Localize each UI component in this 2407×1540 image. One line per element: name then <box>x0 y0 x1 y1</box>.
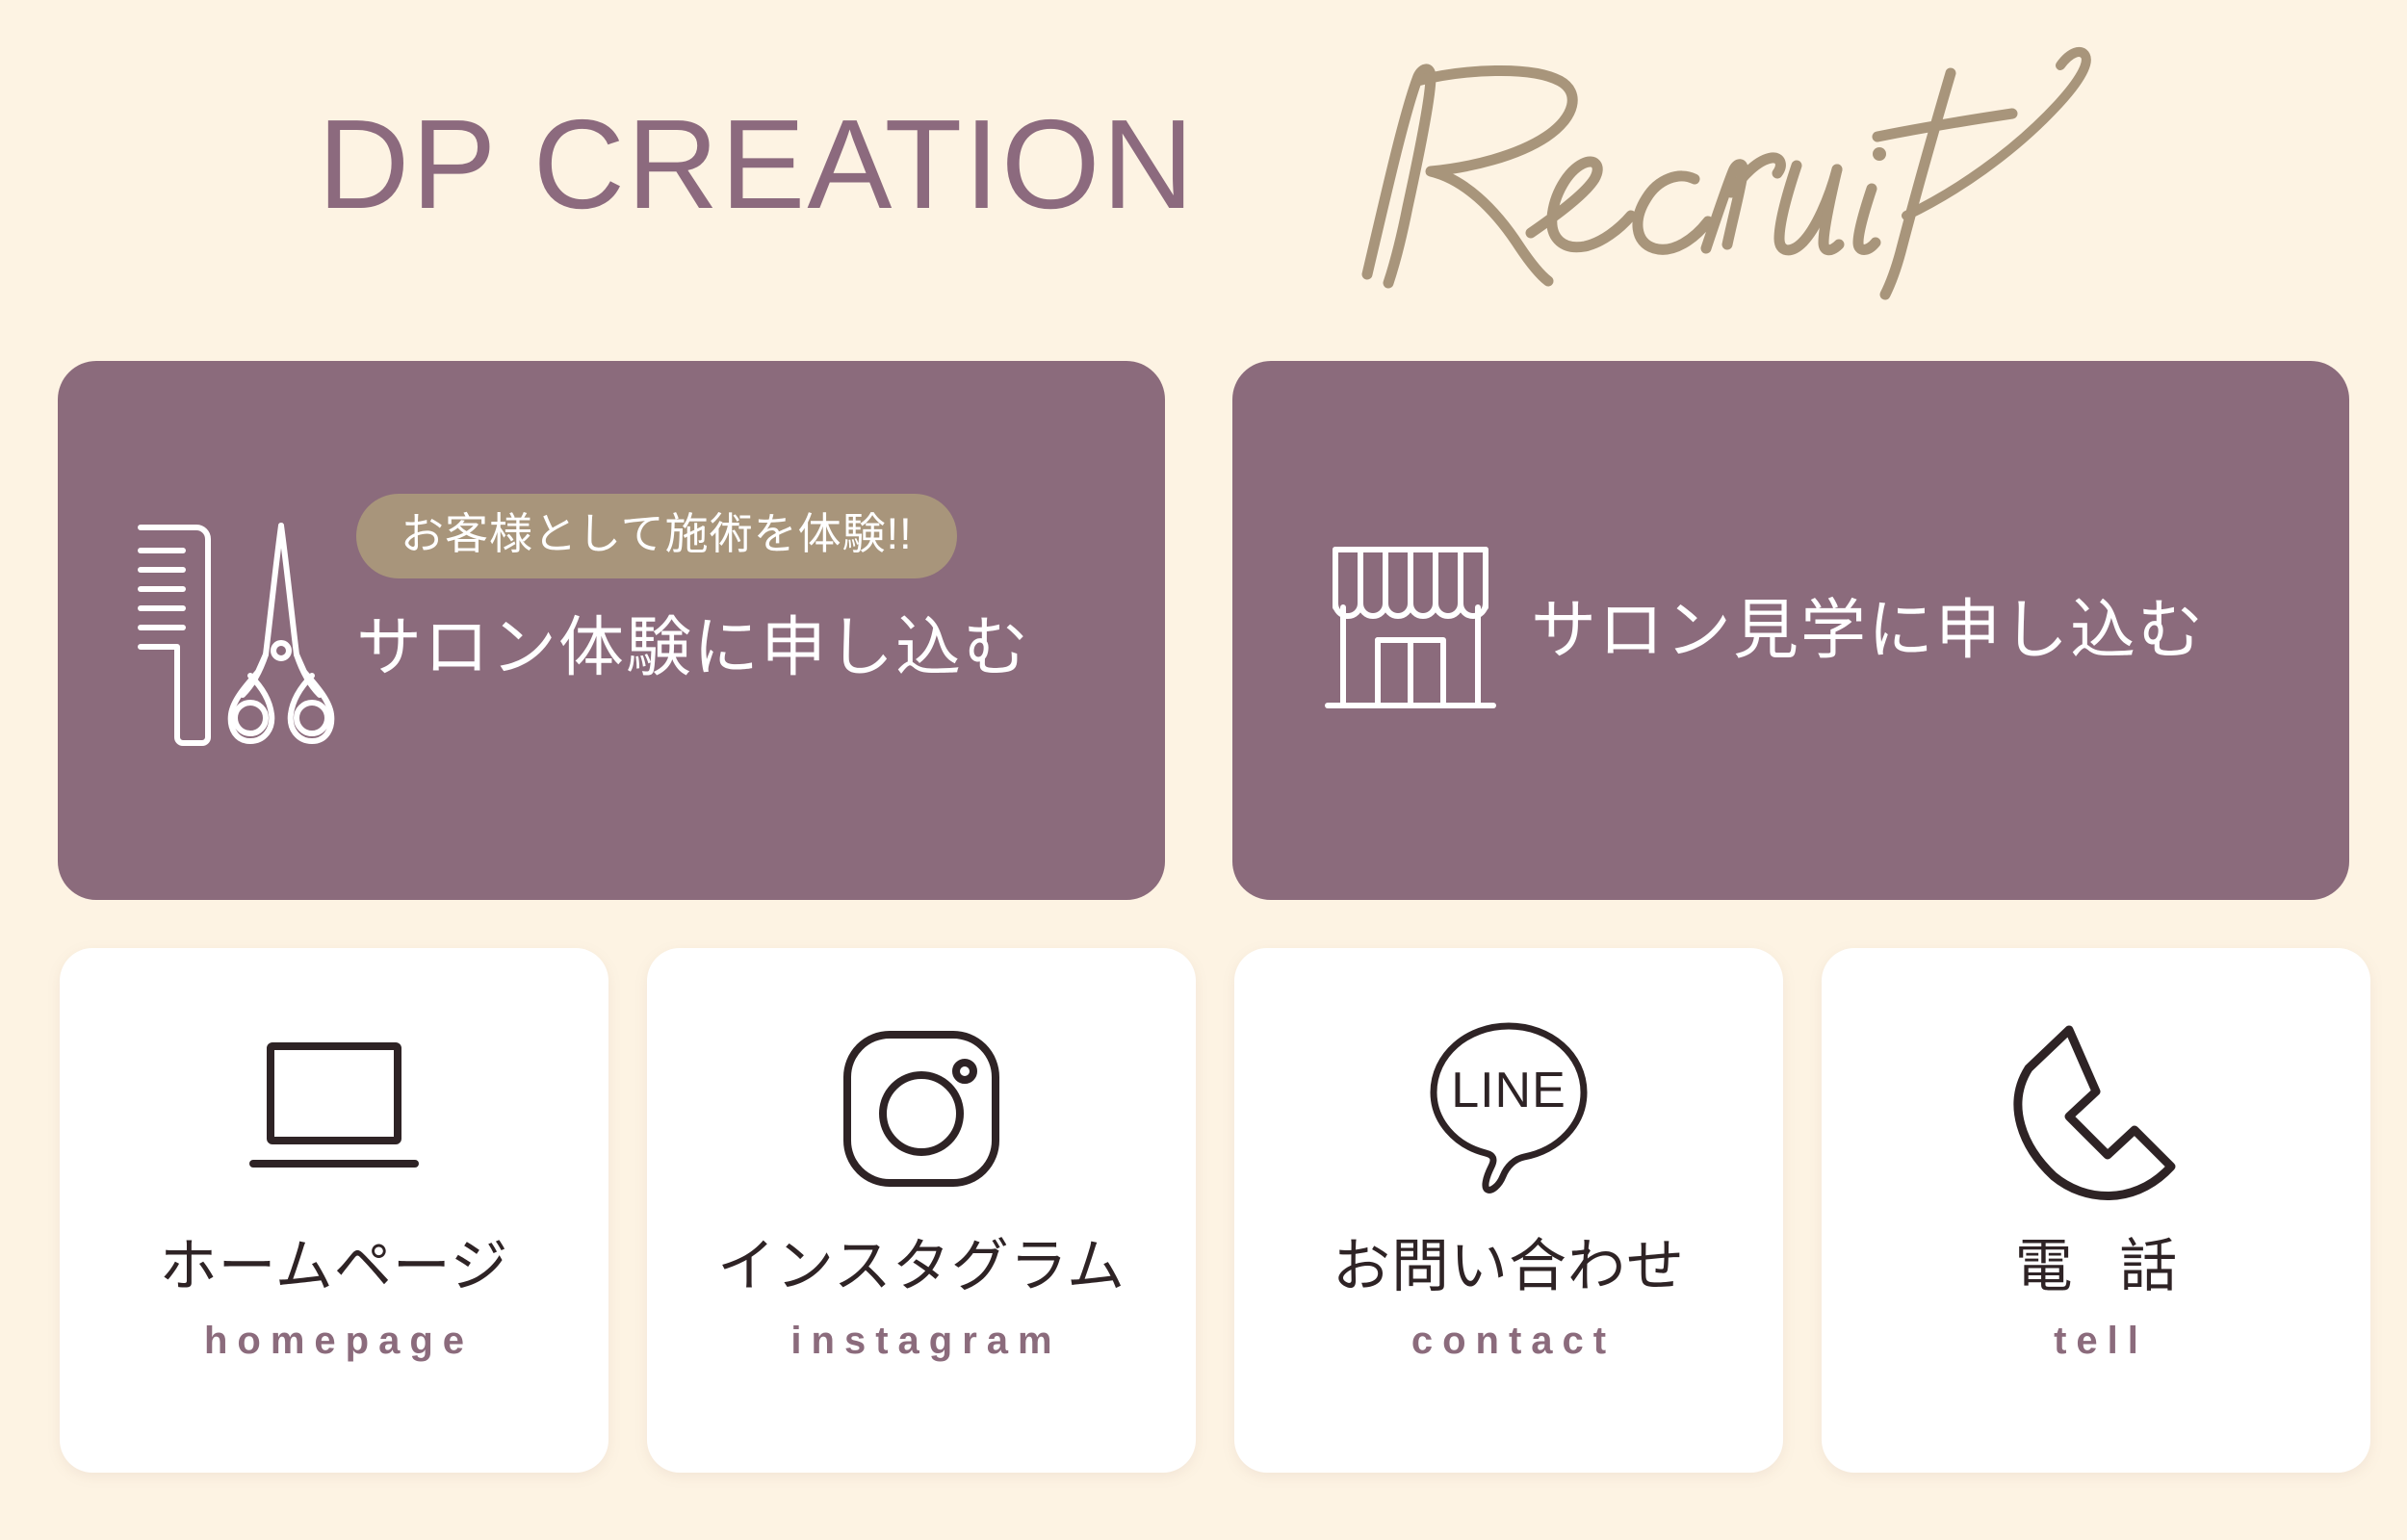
salon-tour-label: サロン見学に申し込む <box>1531 592 2349 669</box>
contact-label-ja: お問い合わせ <box>1333 1235 1685 1298</box>
contact-card[interactable]: LINE お問い合わせ contact <box>1234 948 1783 1473</box>
salon-trial-text: お客様として施術を体験!! サロン体験に申し込む <box>356 575 1165 686</box>
contact-label-en: contact <box>1402 1320 1616 1363</box>
tell-card[interactable]: 電 話 tell <box>1822 948 2370 1473</box>
tell-label-en: tell <box>2044 1320 2148 1363</box>
salon-trial-card[interactable]: お客様として施術を体験!! サロン体験に申し込む <box>58 361 1165 900</box>
phone-handset-icon <box>1995 1008 2197 1210</box>
salon-trial-badge: お客様として施術を体験!! <box>356 494 957 578</box>
tell-label-ja: 電 話 <box>2000 1235 2193 1298</box>
recruit-script-wordmark <box>1242 10 2157 298</box>
homepage-label-en: homepage <box>194 1320 474 1363</box>
comb-scissors-icon <box>96 510 356 751</box>
instagram-icon <box>820 1008 1022 1210</box>
instagram-label-en: instagram <box>781 1320 1061 1363</box>
salon-tour-card[interactable]: サロン見学に申し込む <box>1232 361 2349 900</box>
salon-trial-label: サロン体験に申し込む <box>356 609 1165 686</box>
secondary-link-row: ホームページ homepage インスタグラム instagram LINE <box>0 948 2407 1506</box>
primary-action-row: お客様として施術を体験!! サロン体験に申し込む <box>0 361 2407 900</box>
laptop-icon <box>233 1008 435 1210</box>
homepage-card[interactable]: ホームページ homepage <box>60 948 608 1473</box>
page-title: DP CREATION <box>318 101 1196 228</box>
homepage-label-ja: ホームページ <box>160 1235 509 1298</box>
salon-tour-text: サロン見学に申し込む <box>1531 592 2349 669</box>
instagram-label-ja: インスタグラム <box>717 1235 1126 1298</box>
storefront-icon <box>1290 534 1531 727</box>
line-bubble-icon: LINE <box>1408 1008 1610 1210</box>
instagram-card[interactable]: インスタグラム instagram <box>647 948 1196 1473</box>
line-icon-text: LINE <box>1451 1063 1566 1118</box>
page-header: DP CREATION <box>0 0 2407 346</box>
